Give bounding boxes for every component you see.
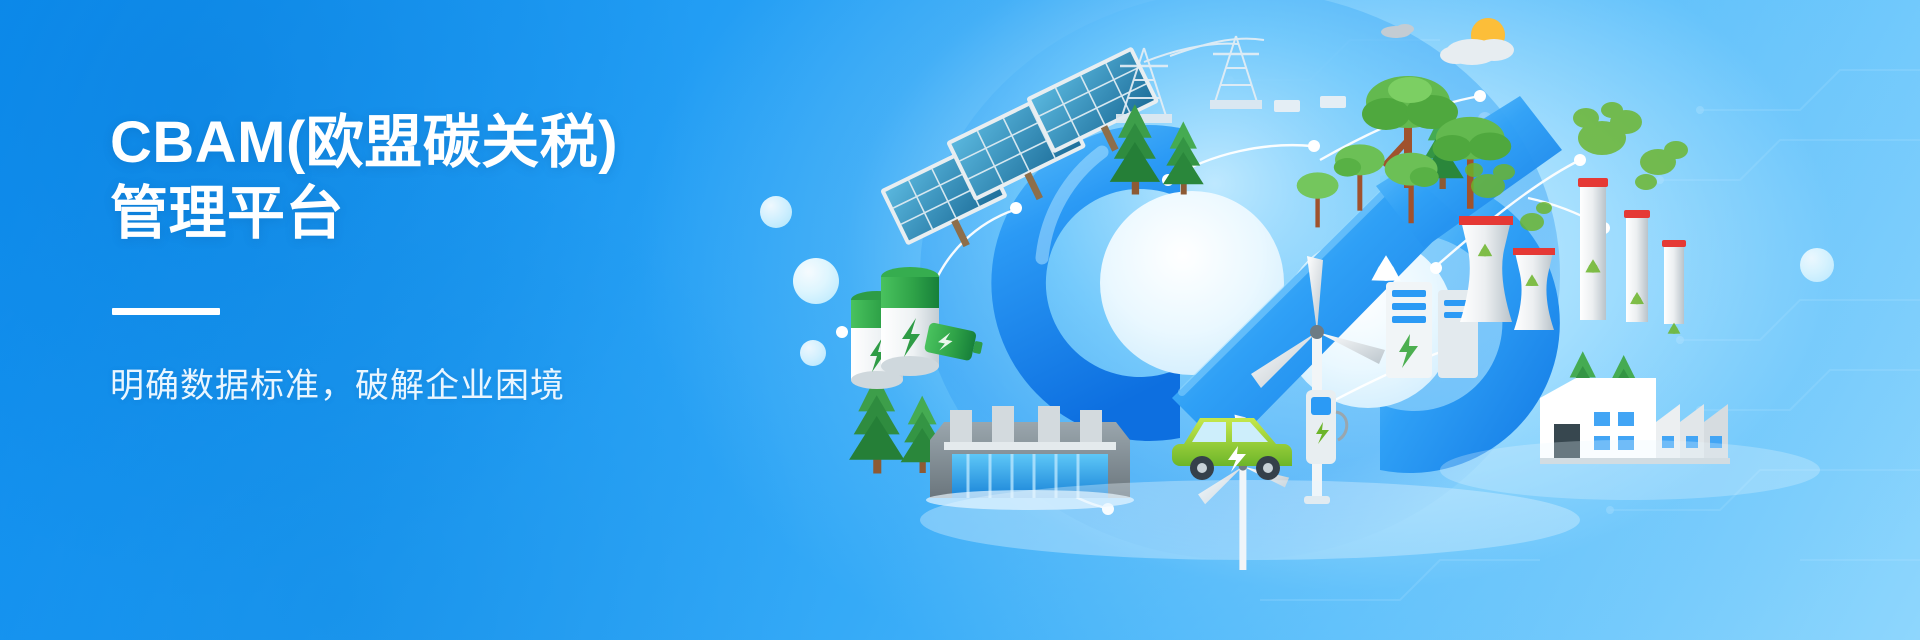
- title-line-2: 管理平台: [110, 179, 830, 250]
- page-subtitle: 明确数据标准，破解企业困境: [110, 363, 830, 411]
- page-title: CBAM(欧盟碳关税) 管理平台: [110, 108, 830, 250]
- circular-economy-illustration: [820, 0, 1920, 640]
- title-line-1: CBAM(欧盟碳关税): [110, 110, 618, 175]
- hero-text-block: CBAM(欧盟碳关税) 管理平台 明确数据标准，破解企业困境: [110, 108, 830, 410]
- title-divider: [112, 308, 220, 315]
- server-racks: [1386, 282, 1478, 378]
- cbam-hero-banner: CBAM(欧盟碳关税) 管理平台 明确数据标准，破解企业困境: [0, 0, 1920, 640]
